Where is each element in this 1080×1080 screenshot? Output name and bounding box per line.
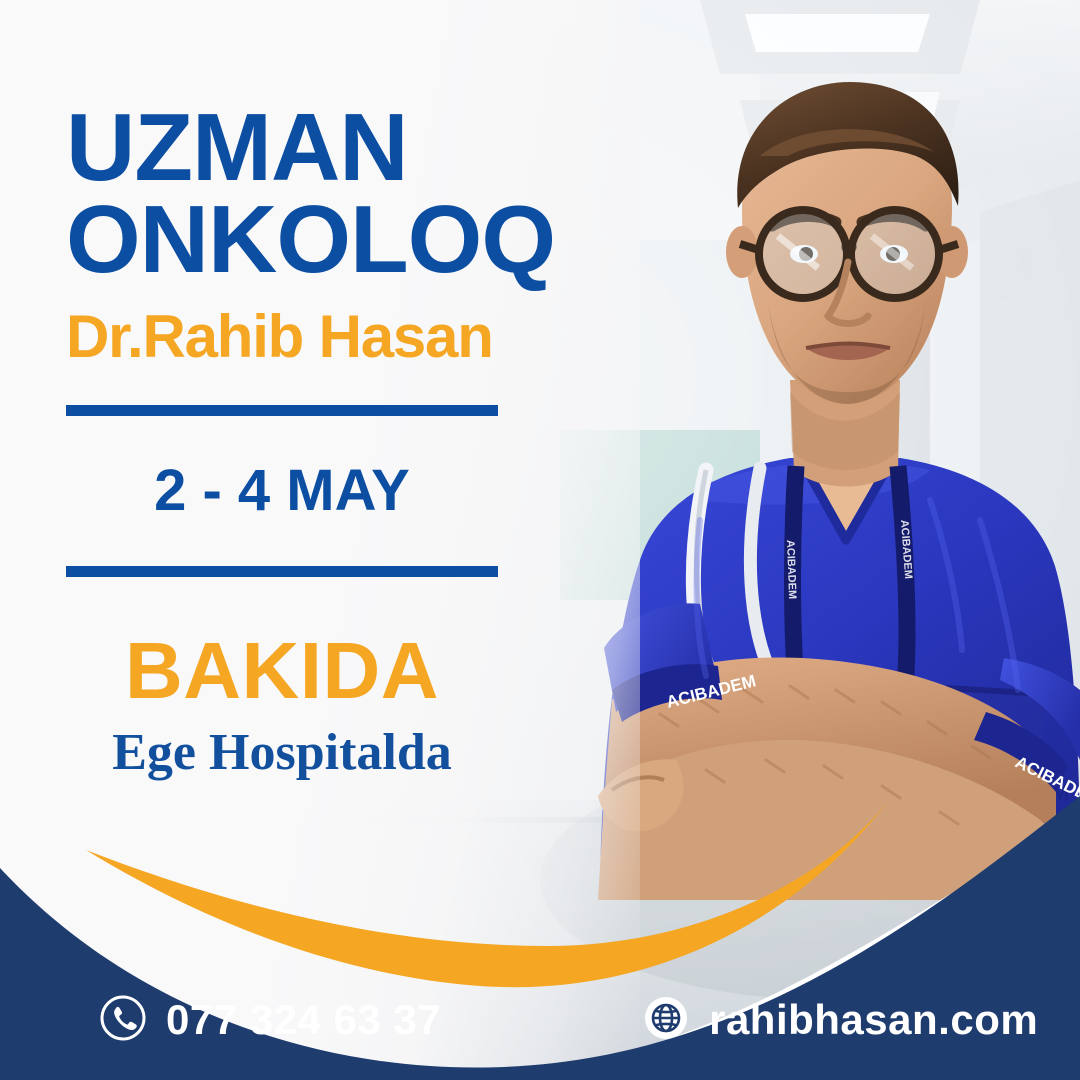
website-contact[interactable]: rahibhasan.com xyxy=(641,993,1038,1048)
svg-text:ACIBADEM: ACIBADEM xyxy=(784,540,798,600)
phone-contact[interactable]: 077 324 63 37 xyxy=(98,993,441,1048)
city-label: BAKIDA xyxy=(66,631,498,711)
headline-line-1: UZMAN xyxy=(66,104,536,192)
date-range: 2 - 4 MAY xyxy=(154,462,410,520)
poster-canvas: ACIBADEM ACIBADEM ACIBADEM xyxy=(0,0,1080,1080)
headline-line-2: ONKOLOQ xyxy=(66,196,536,284)
phone-number: 077 324 63 37 xyxy=(166,999,441,1041)
headline-block: UZMAN ONKOLOQ Dr.Rahib Hasan 2 - 4 MAY B… xyxy=(66,104,536,779)
globe-icon xyxy=(641,993,691,1048)
divider-top xyxy=(66,405,498,416)
venue-label: Ege Hospitalda xyxy=(66,727,498,779)
doctor-name: Dr.Rahib Hasan xyxy=(66,307,536,367)
website-url: rahibhasan.com xyxy=(709,999,1038,1041)
phone-icon xyxy=(98,993,148,1048)
divider-bottom xyxy=(66,566,498,577)
date-band: 2 - 4 MAY xyxy=(66,416,498,566)
footer-contact-bar: 077 324 63 37 rahibhasan.com xyxy=(0,960,1080,1080)
